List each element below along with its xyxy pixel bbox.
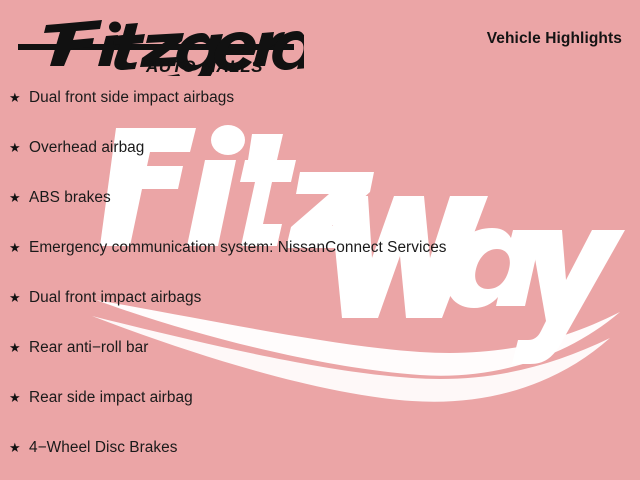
fitzgerald-auto-malls-logo: AUTO MALLS — [14, 14, 304, 76]
vehicle-highlights-slide: AUTO MALLS Vehicle Highlights ★ Dual fro… — [0, 0, 640, 480]
highlight-label: Emergency communication system: NissanCo… — [29, 240, 447, 255]
highlight-label: Dual front impact airbags — [29, 290, 201, 305]
highlight-label: 4−Wheel Disc Brakes — [29, 440, 178, 455]
list-item: ★ 4−Wheel Disc Brakes — [0, 440, 640, 480]
highlight-label: Overhead airbag — [29, 140, 144, 155]
star-bullet-icon: ★ — [9, 91, 29, 104]
star-bullet-icon: ★ — [9, 191, 29, 204]
highlight-label: Rear side impact airbag — [29, 390, 193, 405]
list-item: ★ Rear anti−roll bar — [0, 340, 640, 390]
list-item: ★ ABS brakes — [0, 190, 640, 240]
star-bullet-icon: ★ — [9, 441, 29, 454]
star-bullet-icon: ★ — [9, 341, 29, 354]
highlight-label: ABS brakes — [29, 190, 111, 205]
vehicle-highlights-list: ★ Dual front side impact airbags ★ Overh… — [0, 90, 640, 480]
page-title: Vehicle Highlights — [487, 30, 622, 48]
logo-auto-malls-text: AUTO MALLS — [145, 57, 263, 76]
svg-text:AUTO MALLS: AUTO MALLS — [145, 57, 263, 76]
list-item: ★ Dual front side impact airbags — [0, 90, 640, 140]
highlight-label: Dual front side impact airbags — [29, 90, 234, 105]
star-bullet-icon: ★ — [9, 241, 29, 254]
list-item: ★ Dual front impact airbags — [0, 290, 640, 340]
star-bullet-icon: ★ — [9, 141, 29, 154]
list-item: ★ Rear side impact airbag — [0, 390, 640, 440]
star-bullet-icon: ★ — [9, 391, 29, 404]
highlight-label: Rear anti−roll bar — [29, 340, 148, 355]
list-item: ★ Overhead airbag — [0, 140, 640, 190]
star-bullet-icon: ★ — [9, 291, 29, 304]
list-item: ★ Emergency communication system: Nissan… — [0, 240, 640, 290]
